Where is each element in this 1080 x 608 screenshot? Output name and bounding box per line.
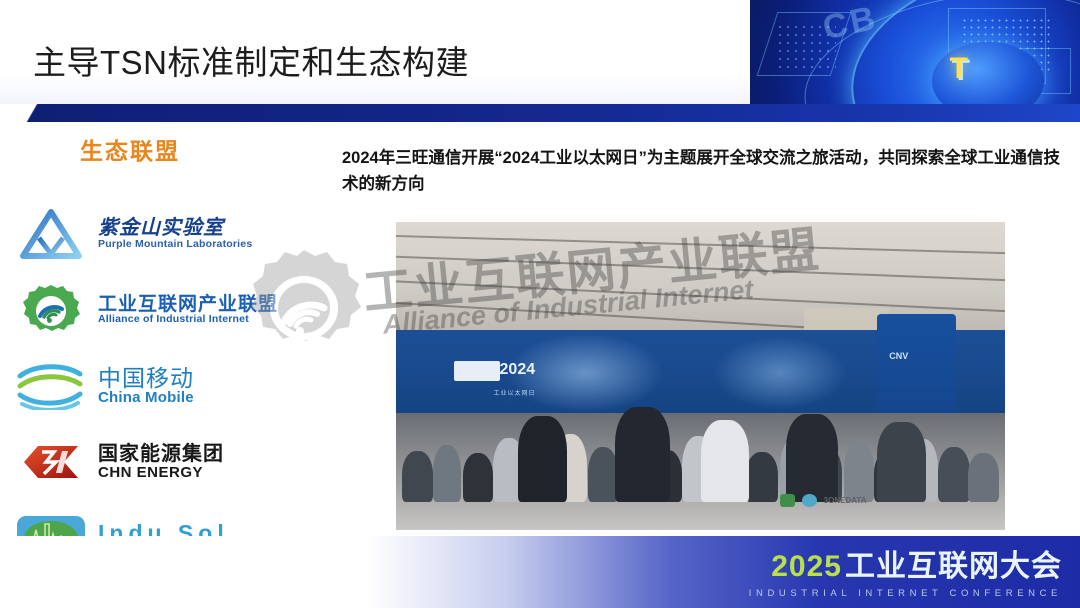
partner-logo-list: 紫金山实验室 Purple Mountain Laboratories 工业互联… <box>14 196 284 576</box>
footer-logo-main: 2025工业互联网大会 <box>749 552 1062 582</box>
red-diamond-icon <box>14 433 88 491</box>
partner-logo-china-mobile: 中国移动 China Mobile <box>14 348 284 424</box>
footer-logo-subtitle: INDUSTRIAL INTERNET CONFERENCE <box>749 589 1062 599</box>
slide-header: CB T 主导TSN标准制定和生态构建 <box>0 0 1080 122</box>
footer-logo-year: 2025 <box>771 550 842 583</box>
page-title: 主导TSN标准制定和生态构建 <box>33 36 469 84</box>
section-heading: 生态联盟 <box>80 132 180 166</box>
photo-backdrop-logo-box <box>454 361 500 381</box>
header-tech-graphic: CB T <box>750 0 1080 104</box>
partner-name-en: Alliance of Industrial Internet <box>98 314 278 325</box>
partner-logo-text: 工业互联网产业联盟 Alliance of Industrial Interne… <box>98 295 278 326</box>
conference-audience-photo: 2024 工业以太网日 CNV <box>396 222 1005 530</box>
partner-name-cn: 中国移动 <box>98 366 194 390</box>
sponsor-mark-icon <box>780 494 795 507</box>
partner-logo-chn-energy: 国家能源集团 CHN ENERGY <box>14 424 284 500</box>
wave-ribbon-icon <box>14 357 88 415</box>
gear-wifi-icon <box>14 281 88 339</box>
sponsor-name: 3ONEDATA <box>824 496 867 505</box>
t-logo-icon: T <box>950 54 968 84</box>
partner-name-en: Purple Mountain Laboratories <box>98 239 252 250</box>
partner-name-cn: 紫金山实验室 <box>98 218 252 239</box>
partner-name-cn: 国家能源集团 <box>98 444 224 465</box>
photo-audience-crowd <box>396 391 1005 502</box>
partner-name-cn: 工业互联网产业联盟 <box>98 295 278 315</box>
partner-name-en: China Mobile <box>98 390 194 406</box>
photo-backdrop-year: 2024 <box>500 361 536 379</box>
partner-logo-text: 国家能源集团 CHN ENERGY <box>98 444 224 481</box>
sponsor-mark-icon <box>802 494 817 507</box>
partner-logo-alliance-industrial-internet: 工业互联网产业联盟 Alliance of Industrial Interne… <box>14 272 284 348</box>
photo-right-banner-label: CNV <box>889 351 908 361</box>
photo-sponsor-logos: 3ONEDATA <box>780 487 963 515</box>
triangle-mountain-icon <box>14 205 88 263</box>
conference-footer-logo: 2025工业互联网大会 INDUSTRIAL INTERNET CONFEREN… <box>749 552 1062 599</box>
partner-logo-purple-mountain: 紫金山实验室 Purple Mountain Laboratories <box>14 196 284 272</box>
slide-root: CB T 主导TSN标准制定和生态构建 生态联盟 2024年三旺通信开展“202… <box>0 0 1080 608</box>
body-paragraph: 2024年三旺通信开展“2024工业以太网日”为主题展开全球交流之旅活动，共同探… <box>342 146 1060 197</box>
footer-logo-title-cn: 工业互联网大会 <box>845 550 1062 583</box>
partner-name-en: CHN ENERGY <box>98 465 224 481</box>
partner-logo-text: 中国移动 China Mobile <box>98 366 194 406</box>
partner-logo-text: 紫金山实验室 Purple Mountain Laboratories <box>98 218 252 250</box>
header-divider-bar <box>0 104 1080 122</box>
